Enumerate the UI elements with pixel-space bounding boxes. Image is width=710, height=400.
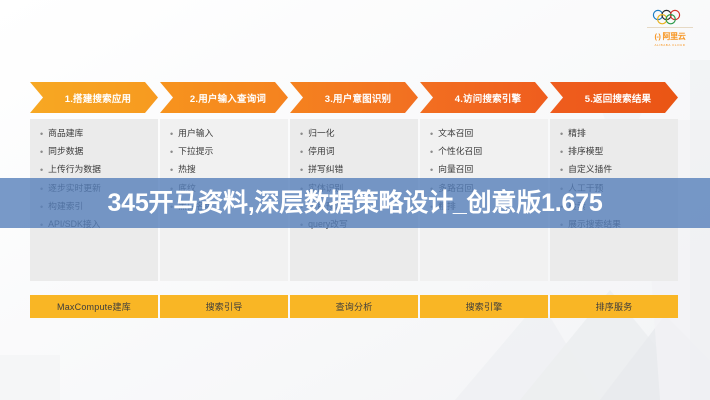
list-item: •自定义插件 xyxy=(560,165,674,175)
list-item: •同步数据 xyxy=(40,147,154,157)
bullet-dot-icon: • xyxy=(170,130,173,139)
chevron-step-4-label: 4.访问搜索引擎 xyxy=(455,91,522,105)
chevron-step-1[interactable]: 1.搭建搜索应用 xyxy=(30,82,158,113)
bullet-text: 用户输入 xyxy=(178,129,213,139)
bullet-text: 下拉提示 xyxy=(178,147,213,157)
list-item: •个性化召回 xyxy=(430,147,544,157)
list-item: •停用词 xyxy=(300,147,414,157)
chevron-step-1-label: 1.搭建搜索应用 xyxy=(65,91,132,105)
bullet-text: 同步数据 xyxy=(48,147,83,157)
chevron-step-5[interactable]: 5.返回搜索结果 xyxy=(550,82,678,113)
bullet-dot-icon: • xyxy=(430,166,433,175)
chevron-step-2[interactable]: 2.用户输入查询词 xyxy=(160,82,288,113)
bullet-text: 排序模型 xyxy=(568,147,603,157)
bullet-text: 上传行为数据 xyxy=(48,165,101,175)
bullet-dot-icon: • xyxy=(40,130,43,139)
list-item: •用户输入 xyxy=(170,129,284,139)
chevron-step-2-label: 2.用户输入查询词 xyxy=(190,91,266,105)
bullet-dot-icon: • xyxy=(560,148,563,157)
footer-label-2-text: 搜索引导 xyxy=(206,300,243,313)
bullet-text: 个性化召回 xyxy=(438,147,482,157)
bullet-dot-icon: • xyxy=(560,130,563,139)
footer-label-5-text: 排序服务 xyxy=(596,300,633,313)
list-item: •向量召回 xyxy=(430,165,544,175)
list-item: •商品建库 xyxy=(40,129,154,139)
alibaba-cloud-mark-icon: (-) xyxy=(654,32,660,41)
bullet-dot-icon: • xyxy=(40,166,43,175)
bullet-dot-icon: • xyxy=(430,130,433,139)
footer-label-3-text: 查询分析 xyxy=(336,300,373,313)
footer-label-4[interactable]: 搜索引擎 xyxy=(420,295,548,318)
logo-divider xyxy=(647,27,693,28)
olympic-rings-icon xyxy=(650,9,690,25)
bullet-text: 向量召回 xyxy=(438,165,473,175)
brand-logo: (-) 阿里云 ALIBABA CLOUD xyxy=(642,9,698,61)
list-item: •归一化 xyxy=(300,129,414,139)
chevron-step-row: 1.搭建搜索应用 2.用户输入查询词 3.用户意图识别 4.访问搜索引擎 5.返… xyxy=(30,82,680,113)
bullet-dot-icon: • xyxy=(170,166,173,175)
list-item: •热搜 xyxy=(170,165,284,175)
bullet-text: 停用词 xyxy=(308,147,334,157)
footer-label-3[interactable]: 查询分析 xyxy=(290,295,418,318)
chevron-step-4[interactable]: 4.访问搜索引擎 xyxy=(420,82,548,113)
chevron-step-5-label: 5.返回搜索结果 xyxy=(585,91,652,105)
bullet-text: 商品建库 xyxy=(48,129,83,139)
footer-label-1[interactable]: MaxCompute建库 xyxy=(30,295,158,318)
footer-label-5[interactable]: 排序服务 xyxy=(550,295,678,318)
bullet-dot-icon: • xyxy=(430,148,433,157)
bullet-dot-icon: • xyxy=(300,148,303,157)
bullet-dot-icon: • xyxy=(170,148,173,157)
footer-label-4-text: 搜索引擎 xyxy=(466,300,503,313)
chevron-step-3-label: 3.用户意图识别 xyxy=(325,91,392,105)
footer-label-1-text: MaxCompute建库 xyxy=(57,300,131,313)
list-item: •上传行为数据 xyxy=(40,165,154,175)
chevron-step-3[interactable]: 3.用户意图识别 xyxy=(290,82,418,113)
list-item: •文本召回 xyxy=(430,129,544,139)
footer-label-2[interactable]: 搜索引导 xyxy=(160,295,288,318)
list-item: •下拉提示 xyxy=(170,147,284,157)
list-item: •排序模型 xyxy=(560,147,674,157)
bullet-dot-icon: • xyxy=(300,166,303,175)
watermark-text: 345开马资料,深层数据策略设计_创意版1.675 xyxy=(107,191,602,216)
brand-subtitle: ALIBABA CLOUD xyxy=(645,43,695,47)
bullet-text: 拼写纠错 xyxy=(308,165,343,175)
bullet-text: 热搜 xyxy=(178,165,196,175)
list-item: •精排 xyxy=(560,129,674,139)
bullet-text: 归一化 xyxy=(308,129,334,139)
watermark-overlay: 345开马资料,深层数据策略设计_创意版1.675 xyxy=(0,178,710,228)
brand-name: 阿里云 xyxy=(662,31,685,42)
bullet-dot-icon: • xyxy=(560,166,563,175)
bullet-text: 文本召回 xyxy=(438,129,473,139)
bullet-text: 精排 xyxy=(568,129,586,139)
bullet-dot-icon: • xyxy=(40,148,43,157)
bullet-dot-icon: • xyxy=(300,130,303,139)
list-item: •拼写纠错 xyxy=(300,165,414,175)
brand-row: (-) 阿里云 xyxy=(642,31,698,42)
bullet-text: 自定义插件 xyxy=(568,165,612,175)
